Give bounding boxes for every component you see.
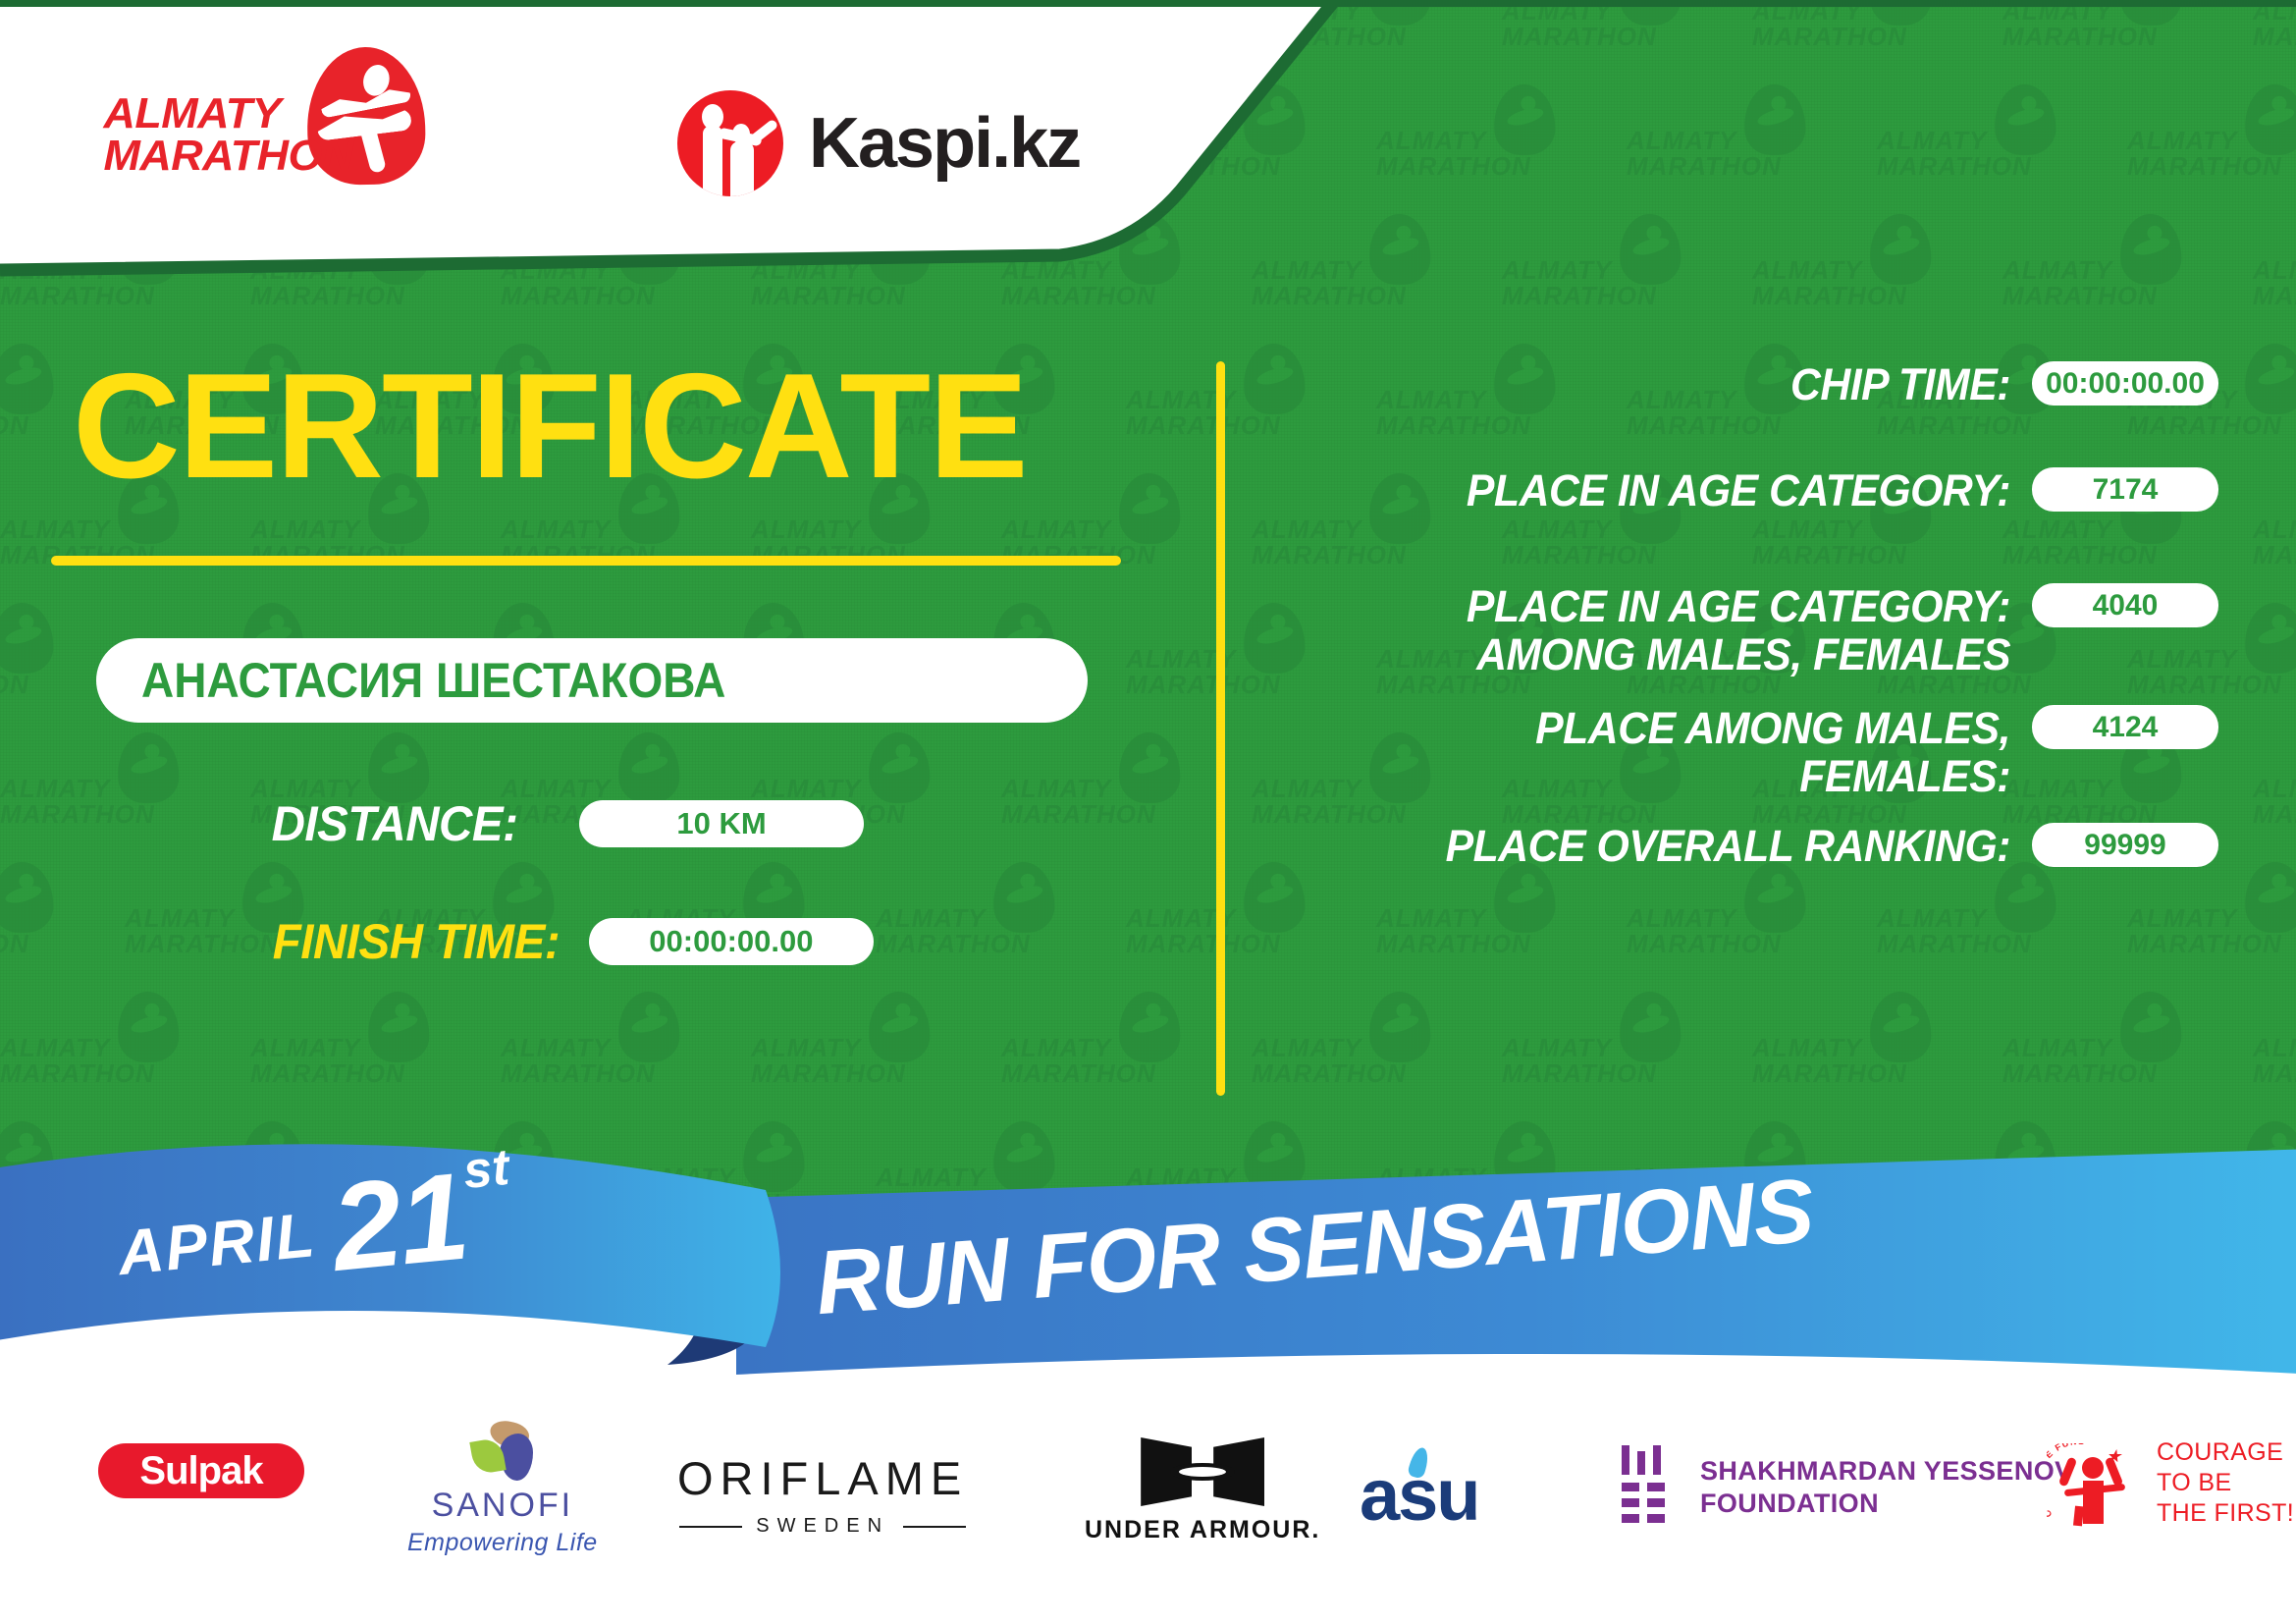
almaty-marathon-logo: ALMATY MARATHON <box>106 55 430 183</box>
under-armour-wordmark: UNDER ARMOUR. <box>1085 1516 1320 1544</box>
stat-label: PLACE IN AGE CATEGORY: <box>1312 467 2010 515</box>
watermark-tile: ALMATYMARATHON <box>876 868 1121 1005</box>
courage-line1: COURAGE <box>2157 1438 2283 1466</box>
watermark-tile: ALMATYMARATHON <box>0 868 120 1005</box>
participant-name-value: АНАСТАСИЯ ШЕСТАКОВА <box>141 652 725 709</box>
stat-value: 4124 <box>2032 705 2218 749</box>
watermark-tile: ALMATYMARATHON <box>1877 868 2122 1005</box>
certificate-page: ALMATYMARATHONALMATYMARATHONALMATYMARATH… <box>0 0 2296 1624</box>
sponsor-asu: asu <box>1360 1453 1479 1537</box>
oriflame-wordmark: ORIFLAME <box>677 1451 968 1505</box>
oriflame-sub: SWEDEN <box>679 1515 966 1538</box>
watermark-tile: ALMATYMARATHON <box>1502 0 1747 98</box>
watermark-tile: ALMATYMARATHON <box>2253 738 2296 876</box>
stat-label: CHIP TIME: <box>1312 361 2010 409</box>
almaty-line: ALMATY <box>104 92 353 135</box>
distance-value: 10 KM <box>579 800 864 847</box>
courage-line3: THE FIRST! <box>2157 1499 2294 1527</box>
event-day: 21 <box>328 1164 470 1278</box>
yessenov-bars-icon <box>1620 1445 1675 1530</box>
sponsor-bar: Sulpak SANOFI Empowering Life ORIFLAME S… <box>0 1414 2296 1624</box>
watermark-tile: ALMATYMARATHON <box>2127 90 2296 228</box>
watermark-tile: ALMATYMARATHON <box>2253 479 2296 617</box>
kaspi-wordmark: Kaspi.kz <box>809 103 1080 184</box>
sponsor-sanofi: SANOFI Empowering Life <box>407 1422 598 1557</box>
sanofi-tagline: Empowering Life <box>407 1529 598 1557</box>
stat-label: PLACE AMONG MALES,FEMALES: <box>1312 705 2010 800</box>
event-month: APRIL <box>115 1198 319 1289</box>
vertical-divider <box>1216 361 1225 1096</box>
watermark-tile: ALMATYMARATHON <box>1752 220 1998 357</box>
finish-time-row: FINISH TIME: 00:00:00.00 <box>265 913 874 970</box>
stat-label: PLACE IN AGE CATEGORY:AMONG MALES, FEMAL… <box>1312 583 2010 678</box>
watermark-tile: ALMATYMARATHON <box>1877 90 2122 228</box>
sanofi-icon <box>470 1422 535 1483</box>
page-title: CERTIFICATE <box>73 352 1027 501</box>
title-underline-rule <box>51 556 1121 566</box>
sponsor-yessenov-foundation: SHAKHMARDAN YESSENOV FOUNDATION <box>1620 1445 2073 1530</box>
stat-value: 7174 <box>2032 467 2218 512</box>
watermark-tile: ALMATYMARATHON <box>1001 479 1247 617</box>
distance-row: DISTANCE: 10 KM <box>265 795 864 852</box>
yessenov-line1: SHAKHMARDAN YESSENOV <box>1700 1456 2073 1486</box>
stat-row: PLACE AMONG MALES,FEMALES:4124 <box>1276 705 2218 800</box>
sponsor-courage-fund: CORPORATE FUND ★ COURAGE TO BE THE FIRST… <box>2047 1437 2294 1529</box>
watermark-tile: ALMATYMARATHON <box>2253 220 2296 357</box>
courage-line2: TO BE <box>2157 1469 2232 1496</box>
distance-label: DISTANCE: <box>272 795 518 852</box>
kaspi-logo: Kaspi.kz <box>677 90 1080 196</box>
almaty-marathon-wordmark: ALMATY MARATHON <box>104 92 353 177</box>
watermark-tile: ALMATYMARATHON <box>1126 868 1371 1005</box>
yessenov-wordmark: SHAKHMARDAN YESSENOV FOUNDATION <box>1700 1455 2073 1520</box>
sponsor-oriflame: ORIFLAME SWEDEN <box>677 1451 968 1538</box>
top-border-stripe <box>0 0 2296 7</box>
participant-name-field: АНАСТАСИЯ ШЕСТАКОВА <box>96 638 1088 723</box>
sulpak-wordmark: Sulpak <box>98 1443 304 1498</box>
stat-row: PLACE OVERALL RANKING:99999 <box>1276 823 2218 871</box>
finish-time-value: 00:00:00.00 <box>589 918 874 965</box>
watermark-tile: ALMATYMARATHON <box>1752 0 1998 98</box>
courage-figure-icon: CORPORATE FUND ★ <box>2047 1441 2145 1526</box>
watermark-tile: ALMATYMARATHON <box>1502 220 1747 357</box>
marathon-line: MARATHON <box>104 135 353 177</box>
asu-wordmark: asu <box>1360 1453 1479 1537</box>
stat-value: 00:00:00.00 <box>2032 361 2218 406</box>
finish-time-label: FINISH TIME: <box>273 913 560 970</box>
under-armour-icon <box>1141 1437 1264 1506</box>
header-logo-bar: ALMATY MARATHON Kaspi.kz <box>0 0 1276 275</box>
watermark-tile: ALMATYMARATHON <box>1627 90 1872 228</box>
sponsor-sulpak: Sulpak <box>98 1443 304 1498</box>
watermark-tile: ALMATYMARATHON <box>0 738 245 876</box>
watermark-tile: ALMATYMARATHON <box>1627 868 1872 1005</box>
event-day-suffix: st <box>460 1138 511 1201</box>
watermark-tile: ALMATYMARATHON <box>1376 868 1622 1005</box>
watermark-tile: ALMATYMARATHON <box>2002 0 2248 98</box>
stat-value: 99999 <box>2032 823 2218 867</box>
stat-row: PLACE IN AGE CATEGORY:AMONG MALES, FEMAL… <box>1276 583 2218 678</box>
stat-row: CHIP TIME:00:00:00.00 <box>1276 361 2218 409</box>
kaspi-people-icon <box>677 90 783 196</box>
watermark-tile: ALMATYMARATHON <box>2002 220 2248 357</box>
courage-wordmark: COURAGE TO BE THE FIRST! <box>2157 1437 2294 1529</box>
stat-value: 4040 <box>2032 583 2218 627</box>
stat-row: PLACE IN AGE CATEGORY:7174 <box>1276 467 2218 515</box>
stat-label: PLACE OVERALL RANKING: <box>1312 823 2010 871</box>
sanofi-wordmark: SANOFI <box>432 1487 574 1525</box>
sponsor-under-armour: UNDER ARMOUR. <box>1085 1437 1320 1544</box>
oriflame-tagline: SWEDEN <box>756 1515 889 1538</box>
yessenov-line2: FOUNDATION <box>1700 1489 1879 1518</box>
watermark-tile: ALMATYMARATHON <box>2127 868 2296 1005</box>
watermark-tile: ALMATYMARATHON <box>1376 90 1622 228</box>
watermark-tile: ALMATYMARATHON <box>1001 738 1247 876</box>
